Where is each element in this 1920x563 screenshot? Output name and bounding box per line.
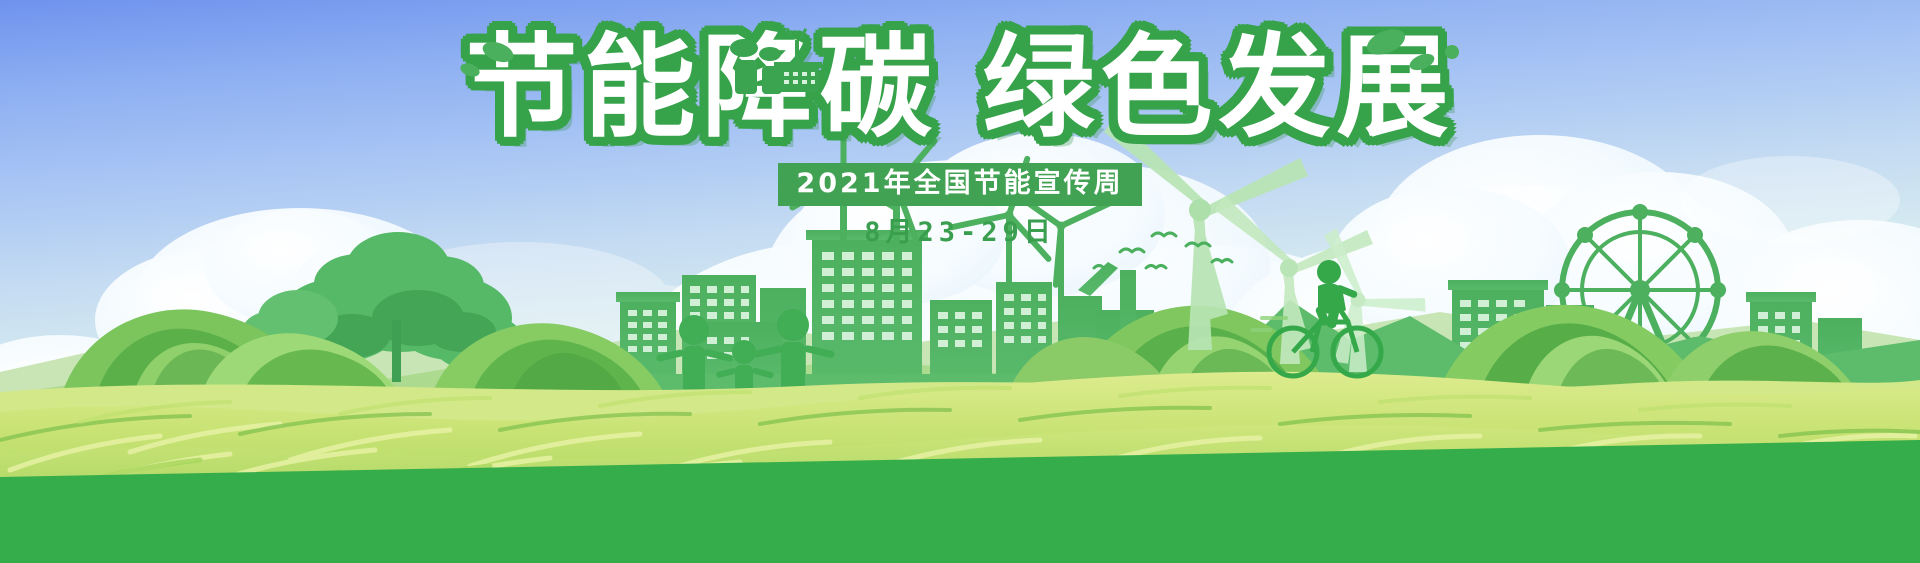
energy-saving-campaign-banner: 节能降碳 绿色发展 2021年全国节能宣传周 8月23-29日	[0, 0, 1920, 563]
leaf-decorations	[459, 38, 517, 79]
sparkle-decorations	[1363, 24, 1459, 73]
title-decorations-layer	[0, 0, 1920, 563]
